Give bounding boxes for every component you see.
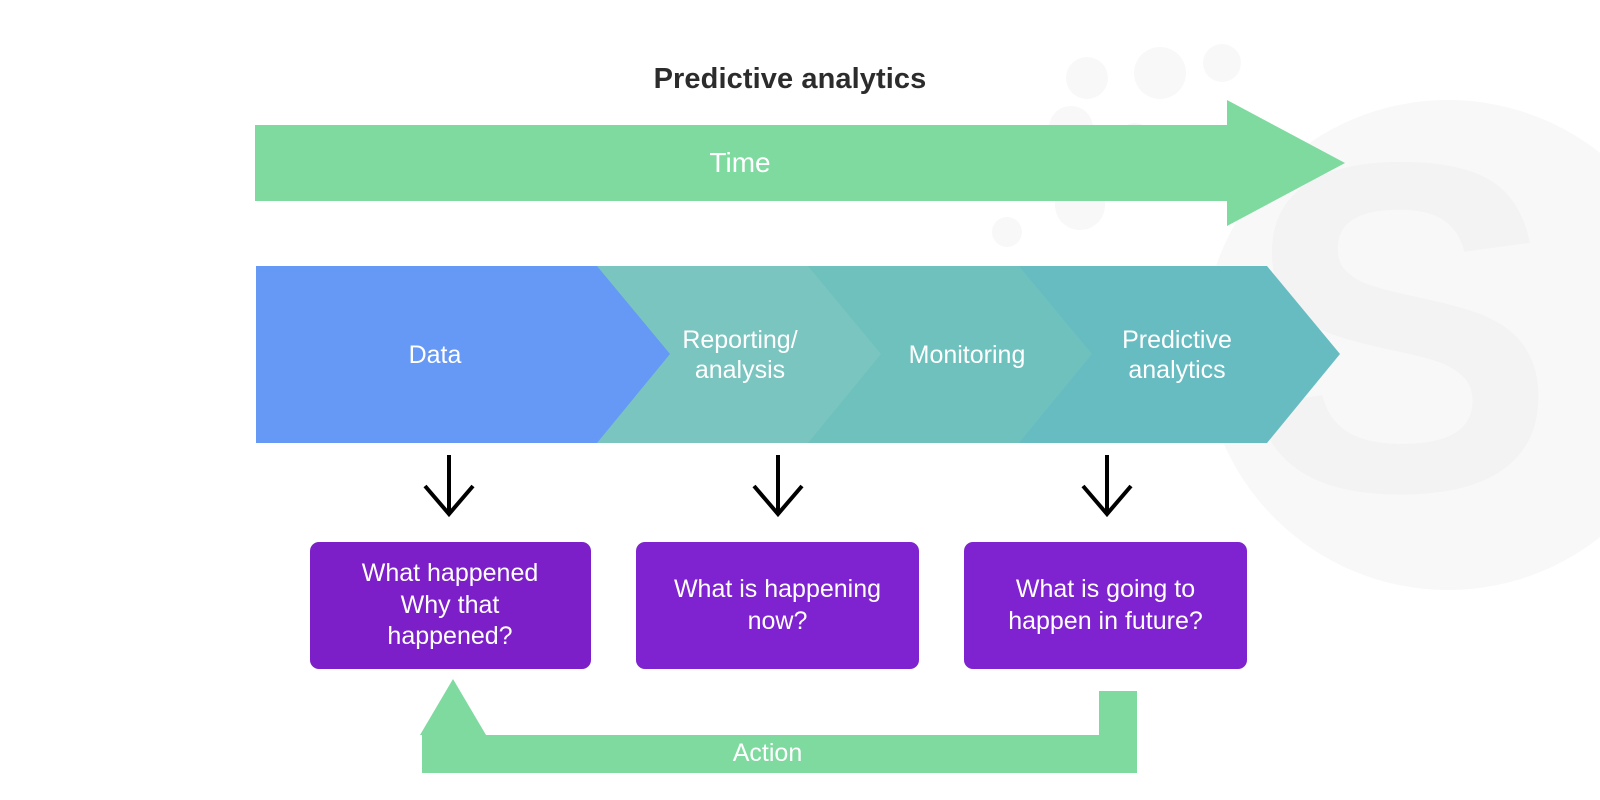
time-arrow — [255, 100, 1345, 226]
question-box-past[interactable] — [310, 542, 591, 669]
page-title-wrapper: Predictive analytics — [440, 63, 1140, 96]
down-arrow-3-icon — [1083, 455, 1131, 514]
diagram-shapes-layer — [0, 0, 1600, 800]
stage-chevron-data[interactable] — [256, 266, 671, 443]
question-box-present[interactable] — [636, 542, 919, 669]
down-arrow-1-icon — [425, 455, 473, 514]
down-arrow-2-icon — [754, 455, 802, 514]
action-arrow-shape — [422, 691, 1137, 773]
question-box-future[interactable] — [964, 542, 1247, 669]
action-arrow — [420, 679, 1137, 773]
page-title: Predictive analytics — [440, 63, 1140, 96]
time-arrow-shape — [255, 100, 1345, 226]
diagram-canvas: S — [0, 0, 1600, 800]
